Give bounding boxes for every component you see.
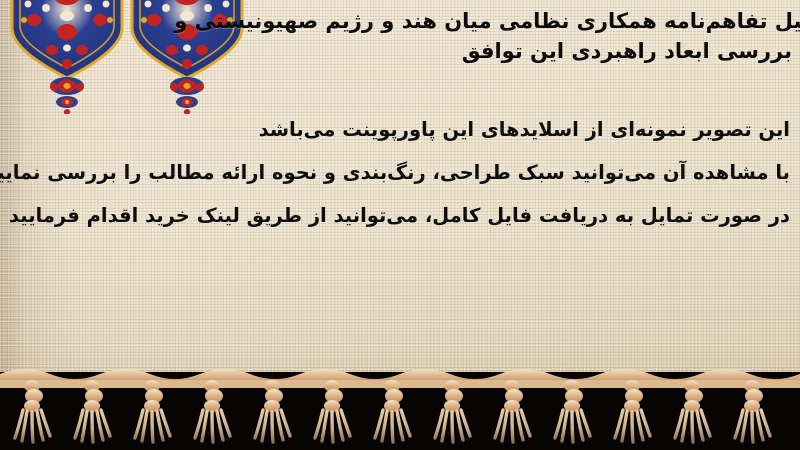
slide-body-line-1: این تصویر نمونه‌ای از اسلایدهای این پاور…: [4, 108, 790, 151]
bottom-black-band: [0, 372, 800, 450]
slide-canvas: لیل تفاهم‌نامه همکاری نظامی میان هند و ر…: [0, 0, 800, 450]
slide-body-line-2: با مشاهده آن می‌توانید سبک طراحی، رنگ‌بن…: [4, 151, 790, 194]
slide-title-line-1: لیل تفاهم‌نامه همکاری نظامی میان هند و ر…: [2, 6, 800, 36]
slide-body-text: این تصویر نمونه‌ای از اسلایدهای این پاور…: [4, 108, 790, 237]
slide-body-line-3: در صورت تمایل به دریافت فایل کامل، می‌تو…: [4, 194, 790, 237]
slide-title: لیل تفاهم‌نامه همکاری نظامی میان هند و ر…: [2, 6, 792, 66]
slide-title-line-2: بررسی ابعاد راهبردی این توافق: [2, 36, 792, 66]
